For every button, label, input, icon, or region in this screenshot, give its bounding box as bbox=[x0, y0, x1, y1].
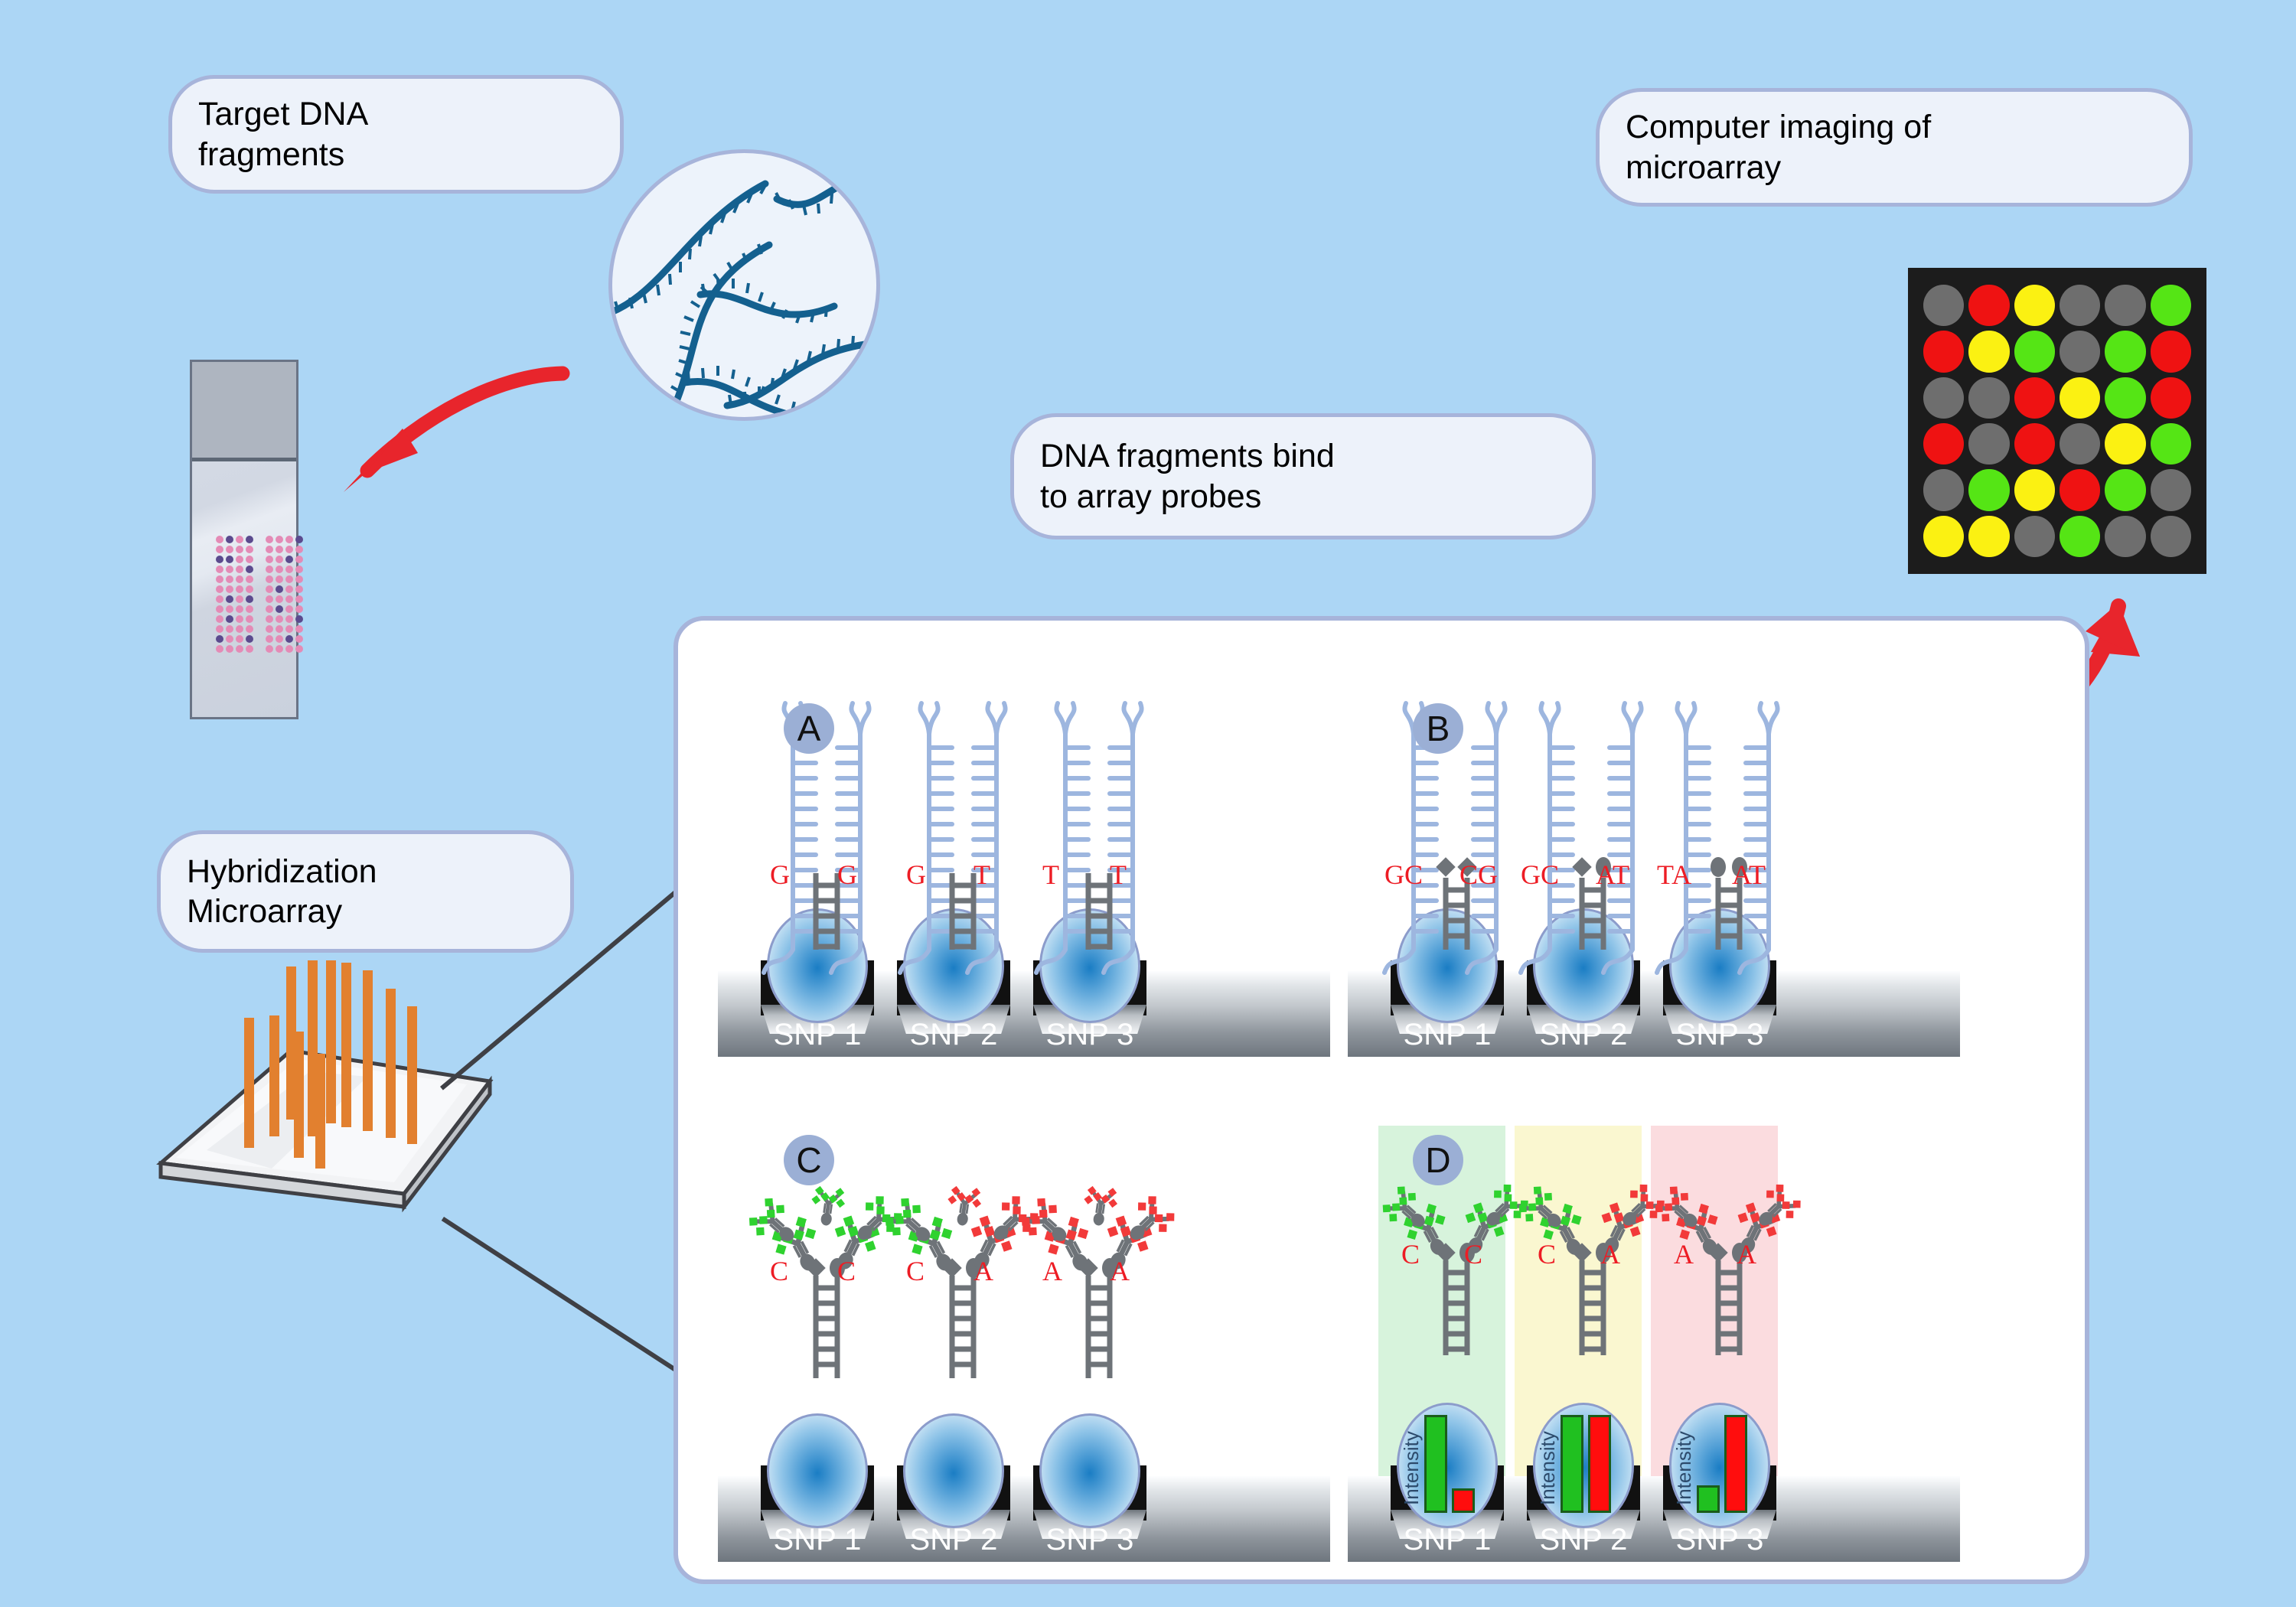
slide-spot bbox=[236, 556, 243, 563]
snp-label: SNP 1 bbox=[1380, 1523, 1515, 1557]
slide-spot bbox=[266, 625, 273, 633]
slide-spot bbox=[295, 585, 303, 593]
snp-label: SNP 2 bbox=[1516, 1018, 1651, 1052]
slide-spot bbox=[276, 556, 283, 563]
slide-spot bbox=[285, 566, 293, 573]
intensity-bar-green bbox=[1561, 1415, 1583, 1513]
slide-spot bbox=[216, 546, 223, 553]
slide-spot bbox=[285, 575, 293, 583]
slide-spot bbox=[236, 595, 243, 603]
intensity-bar-red bbox=[1724, 1415, 1747, 1513]
allele-letter: G bbox=[837, 861, 857, 888]
dna-strands-icon bbox=[612, 153, 876, 417]
allele-letter: T bbox=[974, 861, 990, 888]
slide-gap bbox=[256, 615, 263, 623]
array-cell bbox=[1923, 469, 1964, 510]
slide-spot bbox=[246, 566, 253, 573]
callout-target-dna: Target DNA fragments bbox=[168, 75, 624, 194]
slide-spot bbox=[285, 635, 293, 643]
probe-bar bbox=[244, 1018, 254, 1148]
slide-spot bbox=[236, 575, 243, 583]
slide-spot bbox=[216, 585, 223, 593]
probe-bar bbox=[315, 1054, 325, 1169]
allele-letter: G bbox=[906, 861, 926, 888]
allele-letter: A bbox=[1674, 1240, 1694, 1268]
allele-letter: A bbox=[1737, 1240, 1756, 1268]
panel-badge-d: D bbox=[1413, 1135, 1463, 1185]
slide-spot bbox=[246, 635, 253, 643]
slide-spot bbox=[226, 546, 233, 553]
slide-spot bbox=[276, 575, 283, 583]
slide-spot-grid bbox=[216, 536, 303, 653]
allele-letter: T bbox=[1110, 861, 1127, 888]
slide-spot bbox=[276, 635, 283, 643]
array-cell bbox=[1968, 331, 2009, 372]
panel-badge-c-letter: C bbox=[796, 1139, 821, 1181]
probe-bar bbox=[341, 963, 351, 1127]
slide-spot bbox=[236, 625, 243, 633]
array-cell bbox=[2060, 377, 2100, 419]
slide-spot bbox=[246, 556, 253, 563]
snp-label: SNP 1 bbox=[750, 1018, 885, 1052]
slide-spot bbox=[276, 536, 283, 543]
snp-label: SNP 1 bbox=[750, 1523, 885, 1557]
slide-spot bbox=[285, 595, 293, 603]
callout-bind-probes-text: DNA fragments bind to array probes bbox=[1040, 436, 1335, 517]
slide-gap bbox=[256, 575, 263, 583]
slide-spot bbox=[266, 595, 273, 603]
slide-spot bbox=[276, 566, 283, 573]
slide-spot bbox=[216, 645, 223, 653]
slide-spot bbox=[276, 625, 283, 633]
allele-letter: AT bbox=[1596, 861, 1629, 888]
array-cell bbox=[1923, 285, 1964, 326]
slide-spot bbox=[295, 566, 303, 573]
slide-spot bbox=[295, 615, 303, 623]
array-cell bbox=[2014, 516, 2055, 557]
array-cell bbox=[2014, 469, 2055, 510]
snp-label: SNP 3 bbox=[1022, 1523, 1157, 1557]
slide-spot bbox=[216, 595, 223, 603]
callout-computer-imaging-text: Computer imaging of microarray bbox=[1626, 107, 1931, 187]
intensity-bar-green bbox=[1424, 1415, 1447, 1513]
probe-bar bbox=[294, 1032, 304, 1158]
panel-badge-d-letter: D bbox=[1425, 1139, 1450, 1181]
slide-gap bbox=[256, 605, 263, 613]
allele-letter: C bbox=[1538, 1240, 1556, 1268]
slide-gap bbox=[256, 625, 263, 633]
intensity-chart: Intensity bbox=[1391, 1400, 1504, 1513]
slide-spot bbox=[226, 635, 233, 643]
intensity-axis-label: Intensity bbox=[1672, 1431, 1696, 1505]
slide-gap bbox=[256, 595, 263, 603]
slide-spot bbox=[266, 556, 273, 563]
slide-spot bbox=[266, 585, 273, 593]
plate-3d-icon bbox=[138, 960, 505, 1221]
slide-spot bbox=[295, 645, 303, 653]
slide-spot bbox=[246, 605, 253, 613]
slide-spot bbox=[236, 605, 243, 613]
slide-spot bbox=[216, 605, 223, 613]
slide-gap bbox=[256, 585, 263, 593]
slide-spot bbox=[266, 566, 273, 573]
array-cell bbox=[2105, 377, 2145, 419]
slide-spot bbox=[246, 575, 253, 583]
array-cell bbox=[2014, 331, 2055, 372]
slide-spot bbox=[276, 645, 283, 653]
array-cell bbox=[2060, 469, 2100, 510]
array-cell bbox=[2105, 469, 2145, 510]
intensity-bar-green bbox=[1697, 1485, 1720, 1513]
callout-hybridization: Hybridization Microarray bbox=[157, 830, 574, 953]
slide-spot bbox=[226, 615, 233, 623]
snp-label: SNP 3 bbox=[1022, 1018, 1157, 1052]
slide-gap bbox=[256, 566, 263, 573]
allele-letter: A bbox=[1600, 1240, 1620, 1268]
array-cell bbox=[1923, 516, 1964, 557]
connector-line-lower bbox=[442, 1217, 707, 1391]
array-cell bbox=[2151, 331, 2191, 372]
callout-hybridization-text: Hybridization Microarray bbox=[187, 852, 377, 932]
slide-spot bbox=[266, 645, 273, 653]
arrow-fragments-to-slide bbox=[268, 337, 574, 543]
allele-letter: C bbox=[906, 1257, 925, 1285]
array-cell bbox=[2060, 285, 2100, 326]
array-cell bbox=[2060, 331, 2100, 372]
dna-fragments-circle bbox=[608, 149, 880, 421]
intensity-axis-label: Intensity bbox=[1400, 1431, 1424, 1505]
array-cell bbox=[2105, 423, 2145, 464]
slide-gap bbox=[256, 635, 263, 643]
slide-spot bbox=[295, 595, 303, 603]
allele-letter: T bbox=[1042, 861, 1059, 888]
array-cell bbox=[2014, 423, 2055, 464]
allele-letter: A bbox=[1110, 1257, 1130, 1285]
slide-spot bbox=[216, 575, 223, 583]
callout-computer-imaging: Computer imaging of microarray bbox=[1596, 88, 2193, 207]
slide-spot bbox=[236, 536, 243, 543]
slide-spot bbox=[285, 556, 293, 563]
slide-spot bbox=[285, 645, 293, 653]
allele-letter: AT bbox=[1732, 861, 1766, 888]
panel-badge-a-letter: A bbox=[797, 708, 821, 749]
array-cell bbox=[2151, 285, 2191, 326]
snp-label: SNP 3 bbox=[1652, 1523, 1787, 1557]
panel-badge-b-letter: B bbox=[1427, 708, 1450, 749]
slide-spot bbox=[295, 625, 303, 633]
array-cell bbox=[1968, 469, 2009, 510]
allele-letter: C bbox=[837, 1257, 856, 1285]
intensity-chart: Intensity bbox=[1527, 1400, 1640, 1513]
slide-spot bbox=[266, 615, 273, 623]
array-cell bbox=[2060, 516, 2100, 557]
allele-letter: GC bbox=[1384, 861, 1423, 888]
callout-bind-probes: DNA fragments bind to array probes bbox=[1010, 413, 1596, 539]
hybridization-microarray-plate bbox=[138, 960, 505, 1221]
slide-spot bbox=[266, 575, 273, 583]
intensity-bar-red bbox=[1588, 1415, 1611, 1513]
array-cell bbox=[1968, 285, 2009, 326]
array-cell bbox=[1968, 516, 2009, 557]
slide-spot bbox=[285, 625, 293, 633]
slide-spot bbox=[246, 536, 253, 543]
allele-letter: A bbox=[974, 1257, 993, 1285]
slide-spot bbox=[266, 605, 273, 613]
slide-spot bbox=[295, 556, 303, 563]
slide-spot bbox=[285, 605, 293, 613]
probe-bar bbox=[386, 989, 396, 1138]
slide-spot bbox=[276, 615, 283, 623]
allele-letter: GC bbox=[1521, 861, 1559, 888]
array-cell bbox=[2060, 423, 2100, 464]
allele-letter: CG bbox=[1459, 861, 1498, 888]
slide-gap bbox=[256, 546, 263, 553]
allele-letter: G bbox=[770, 861, 790, 888]
array-cell bbox=[2014, 377, 2055, 419]
slide-spot bbox=[236, 566, 243, 573]
probe-bar bbox=[269, 1015, 279, 1136]
array-cell bbox=[1968, 377, 2009, 419]
panel-badge-c: C bbox=[784, 1135, 834, 1185]
slide-spot bbox=[295, 536, 303, 543]
array-cell bbox=[2014, 285, 2055, 326]
allele-letter: C bbox=[770, 1257, 788, 1285]
array-cell bbox=[1923, 331, 1964, 372]
slide-spot bbox=[226, 645, 233, 653]
intensity-chart: Intensity bbox=[1663, 1400, 1776, 1513]
probe-bar bbox=[326, 960, 336, 1123]
slide-frosted-label bbox=[192, 362, 296, 461]
slide-spot bbox=[285, 546, 293, 553]
slide-spot bbox=[226, 625, 233, 633]
slide-spot bbox=[246, 546, 253, 553]
slide-spot bbox=[246, 625, 253, 633]
slide-spot bbox=[246, 595, 253, 603]
slide-spot bbox=[216, 556, 223, 563]
array-cell bbox=[2151, 377, 2191, 419]
array-cell bbox=[1923, 377, 1964, 419]
probe-bar bbox=[407, 1006, 417, 1144]
slide-gap bbox=[256, 536, 263, 543]
slide-spot bbox=[266, 635, 273, 643]
slide-spot bbox=[216, 635, 223, 643]
array-cell bbox=[2151, 423, 2191, 464]
array-cell bbox=[1923, 423, 1964, 464]
slide-spot bbox=[226, 585, 233, 593]
snp-group-d: SNP 1 SNP 2 SNP 3 C C C A A A Intensity bbox=[1348, 1126, 1960, 1562]
slide-spot bbox=[236, 546, 243, 553]
array-cell bbox=[1968, 423, 2009, 464]
slide-spot bbox=[226, 566, 233, 573]
array-cell bbox=[2151, 469, 2191, 510]
slide-gap bbox=[256, 556, 263, 563]
snp-group-c: SNP 1 SNP 2 SNP 3 C C C A A A bbox=[718, 1126, 1330, 1562]
slide-spot bbox=[266, 546, 273, 553]
array-probe-binding-panel: A SNP 1 SNP 2 SNP 3 G G bbox=[673, 616, 2089, 1584]
slide-spot bbox=[295, 605, 303, 613]
slide-spot bbox=[236, 585, 243, 593]
slide-spot bbox=[226, 595, 233, 603]
slide-spot bbox=[276, 546, 283, 553]
slide-spot bbox=[285, 615, 293, 623]
snp-label: SNP 2 bbox=[886, 1018, 1021, 1052]
slide-spot bbox=[236, 645, 243, 653]
slide-spot bbox=[216, 566, 223, 573]
slide-spot bbox=[276, 585, 283, 593]
intensity-bar-red bbox=[1452, 1488, 1475, 1513]
slide-gap bbox=[256, 645, 263, 653]
slide-spot bbox=[246, 645, 253, 653]
snp-label: SNP 3 bbox=[1652, 1018, 1787, 1052]
microarray-scan-image bbox=[1908, 268, 2206, 574]
slide-spot bbox=[276, 605, 283, 613]
allele-letter: C bbox=[1464, 1240, 1482, 1268]
array-cell bbox=[2105, 331, 2145, 372]
slide-spot bbox=[295, 635, 303, 643]
snp-label: SNP 2 bbox=[886, 1523, 1021, 1557]
slide-spot bbox=[226, 575, 233, 583]
slide-spot bbox=[285, 585, 293, 593]
slide-spot bbox=[285, 536, 293, 543]
slide-spot bbox=[216, 615, 223, 623]
array-cell bbox=[2105, 516, 2145, 557]
slide-spot bbox=[216, 625, 223, 633]
slide-spot bbox=[226, 536, 233, 543]
array-cell bbox=[2105, 285, 2145, 326]
slide-spot bbox=[216, 536, 223, 543]
array-cell bbox=[2151, 516, 2191, 557]
snp-label: SNP 2 bbox=[1516, 1523, 1651, 1557]
allele-letter: TA bbox=[1657, 861, 1691, 888]
slide-spot bbox=[246, 585, 253, 593]
slide-spot bbox=[236, 615, 243, 623]
microscope-slide bbox=[190, 360, 298, 719]
slide-spot bbox=[246, 615, 253, 623]
allele-letter: C bbox=[1401, 1240, 1420, 1268]
slide-spot bbox=[226, 605, 233, 613]
panel-badge-b: B bbox=[1413, 703, 1463, 754]
slide-spot bbox=[295, 575, 303, 583]
panel-badge-a: A bbox=[784, 703, 834, 754]
snp-label: SNP 1 bbox=[1380, 1018, 1515, 1052]
slide-spot bbox=[226, 556, 233, 563]
callout-target-dna-text: Target DNA fragments bbox=[198, 94, 368, 174]
intensity-axis-label: Intensity bbox=[1536, 1431, 1560, 1505]
slide-spot bbox=[295, 546, 303, 553]
slide-spot bbox=[276, 595, 283, 603]
slide-spot bbox=[266, 536, 273, 543]
allele-letter: A bbox=[1042, 1257, 1062, 1285]
probe-bar bbox=[363, 970, 373, 1131]
slide-spot bbox=[236, 635, 243, 643]
